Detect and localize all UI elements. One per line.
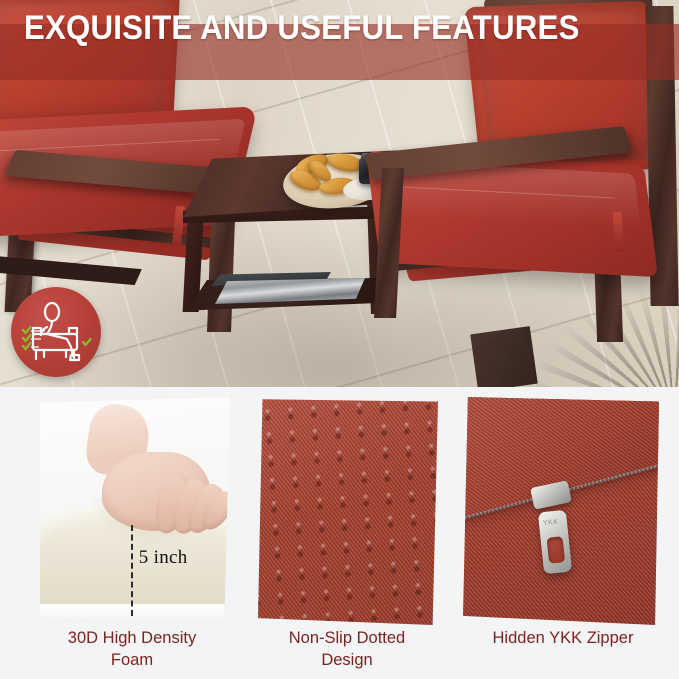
product-infographic: EXQUISITE AND USEFUL FEATURES 5 inch YKK xyxy=(0,0,679,679)
feature-caption-zipper: Hidden YKK Zipper xyxy=(448,628,678,650)
feature-image-zipper: YKK xyxy=(463,397,659,625)
feature-caption-foam: 30D High Density Foam xyxy=(14,628,250,672)
caption-line: Hidden YKK Zipper xyxy=(448,628,678,650)
feature-caption-dotted: Non-Slip Dotted Design xyxy=(232,628,462,672)
comfort-seating-badge xyxy=(11,287,101,377)
depth-label: 5 inch xyxy=(139,547,188,569)
caption-line: Design xyxy=(232,650,462,672)
depth-dashed-line xyxy=(131,525,133,616)
feature-image-dotted xyxy=(258,397,438,625)
pull-tab-hole xyxy=(547,536,566,564)
page-title: EXQUISITE AND USEFUL FEATURES xyxy=(0,0,625,56)
caption-line: Foam xyxy=(14,650,250,672)
ykk-brand-mark: YKK xyxy=(543,518,564,529)
caption-line: Non-Slip Dotted xyxy=(232,628,462,650)
caption-line: 30D High Density xyxy=(14,628,250,650)
non-slip-dots-texture xyxy=(258,397,438,625)
hero-image: EXQUISITE AND USEFUL FEATURES xyxy=(0,0,679,387)
feature-image-foam: 5 inch xyxy=(40,397,230,625)
stitch-line xyxy=(392,186,615,199)
hand-pressing xyxy=(86,411,223,548)
person-seated-on-sofa-icon xyxy=(11,287,101,377)
palm-frond-shadow xyxy=(479,237,679,387)
